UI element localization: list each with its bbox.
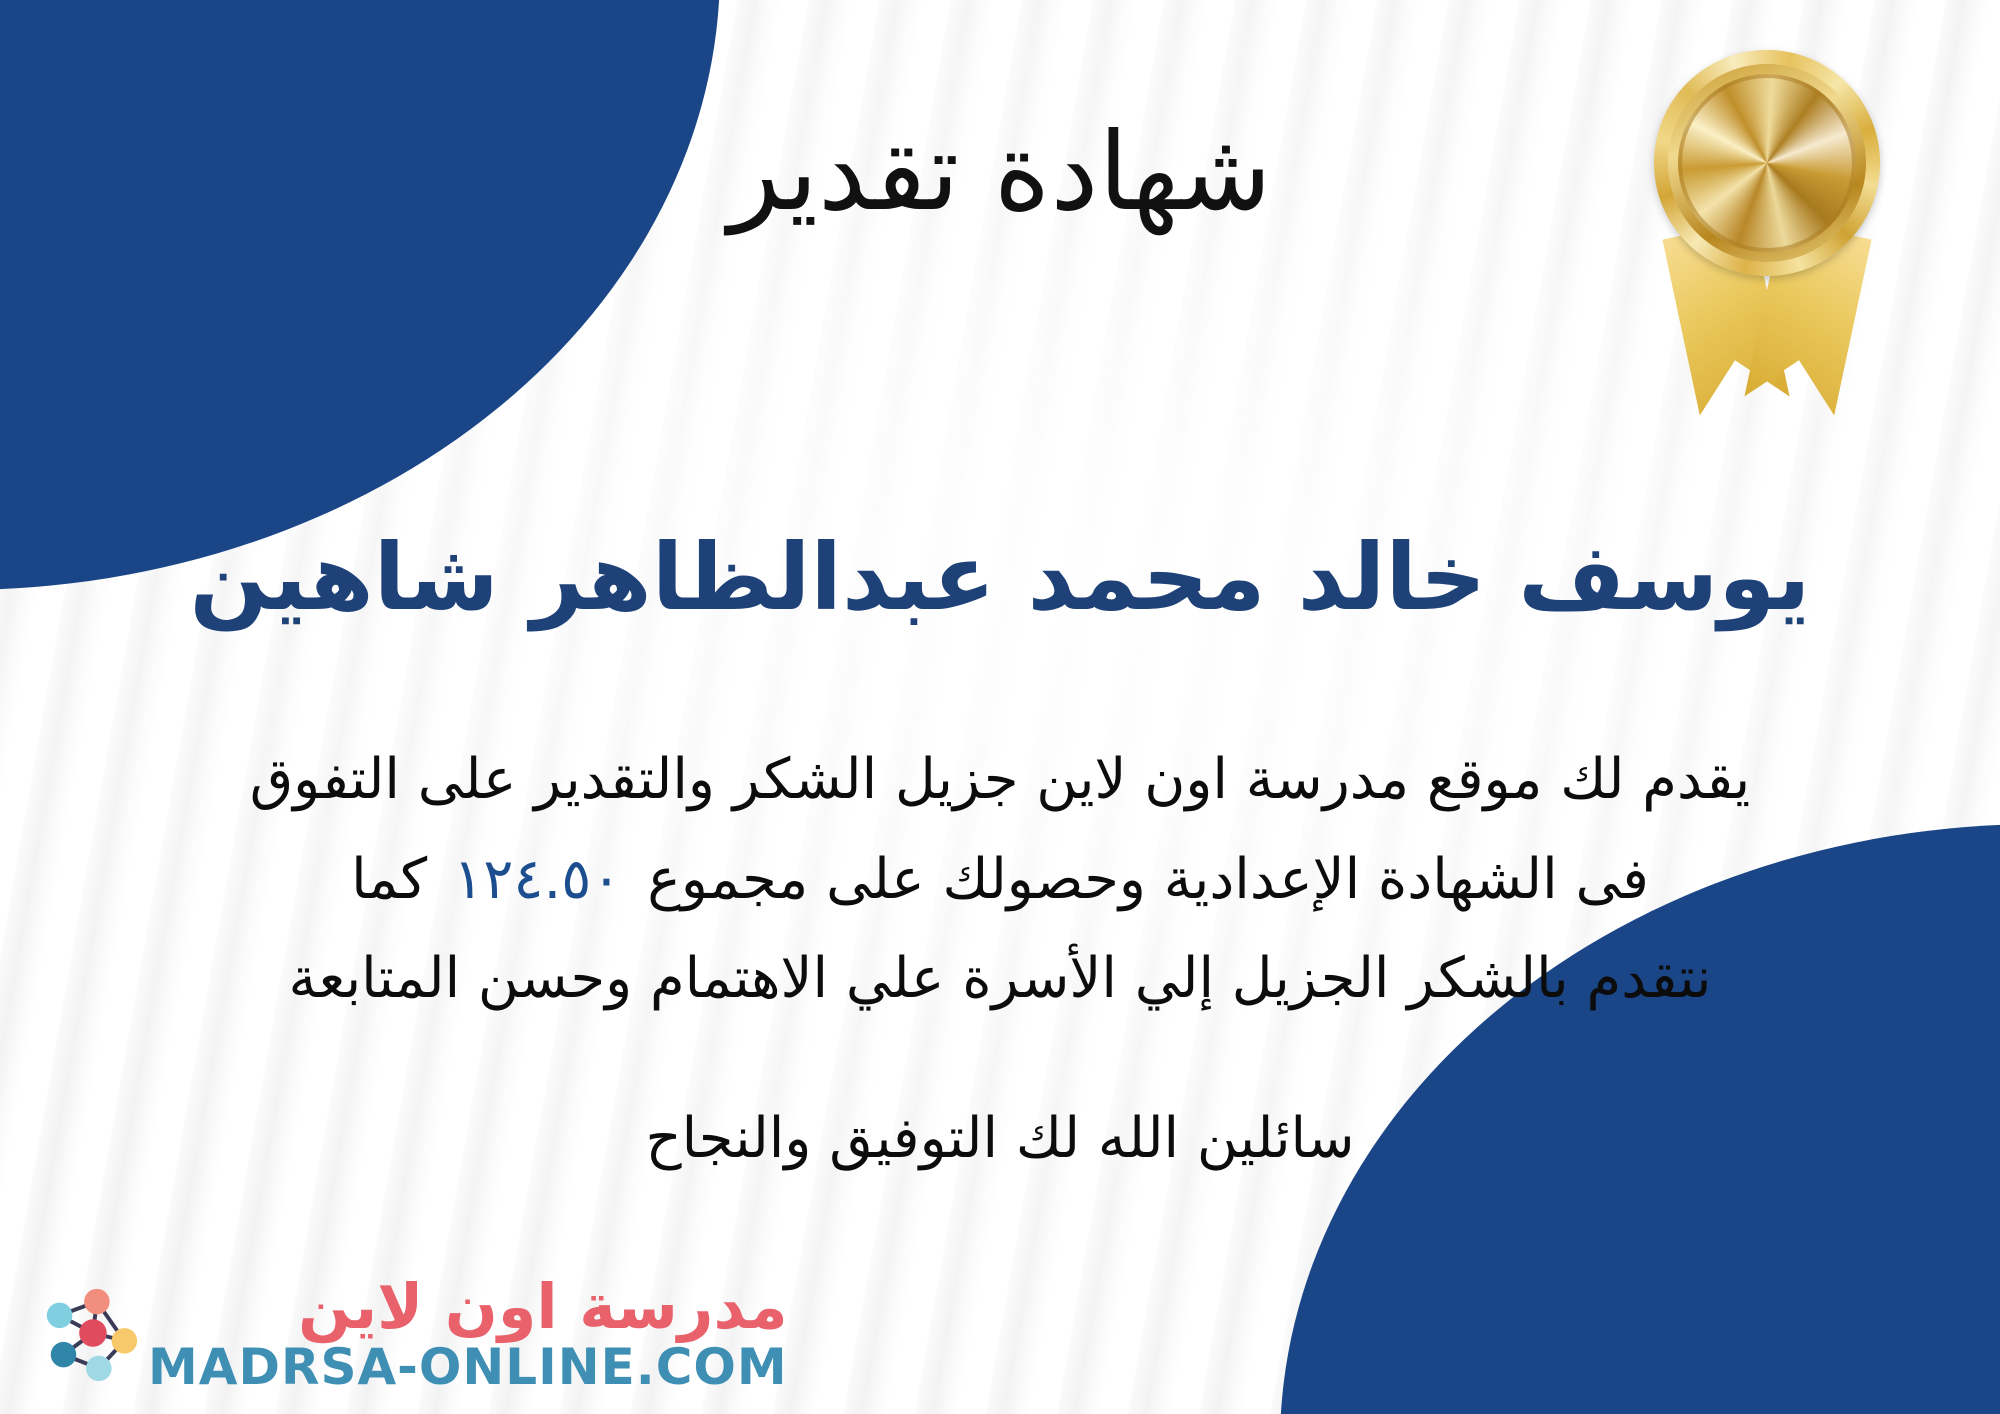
logo-arabic-name: مدرسة اون لاين: [298, 1276, 788, 1338]
grade-total-value: ١٢٤.٥٠: [427, 830, 647, 930]
body-line-1: يقدم لك موقع مدرسة اون لاين جزيل الشكر و…: [90, 730, 1910, 830]
certificate-content: شهادة تقدير يوسف خالد محمد عبدالظاهر شاه…: [0, 0, 2000, 1414]
body-line-2-prefix: فى الشهادة الإعدادية وحصولك على مجموع: [647, 847, 1649, 912]
network-nodes-icon: [36, 1280, 144, 1388]
closing-wish: سائلين الله لك التوفيق والنجاح: [0, 1106, 2000, 1171]
logo-website: MADRSA-ONLINE.COM: [148, 1342, 788, 1392]
body-line-2-suffix: كما: [351, 847, 427, 912]
body-line-2: فى الشهادة الإعدادية وحصولك على مجموع١٢٤…: [90, 830, 1910, 930]
certificate-title: شهادة تقدير: [0, 108, 2000, 238]
recipient-name: يوسف خالد محمد عبدالظاهر شاهين: [0, 520, 2000, 635]
body-line-3: نتقدم بالشكر الجزيل إلي الأسرة علي الاهت…: [90, 929, 1910, 1029]
brand-logo[interactable]: مدرسة اون لاين MADRSA-ONLINE.COM: [36, 1276, 788, 1392]
certificate-body: يقدم لك موقع مدرسة اون لاين جزيل الشكر و…: [90, 730, 1910, 1029]
certificate-canvas: شهادة تقدير يوسف خالد محمد عبدالظاهر شاه…: [0, 0, 2000, 1414]
logo-text-block: مدرسة اون لاين MADRSA-ONLINE.COM: [148, 1276, 788, 1392]
